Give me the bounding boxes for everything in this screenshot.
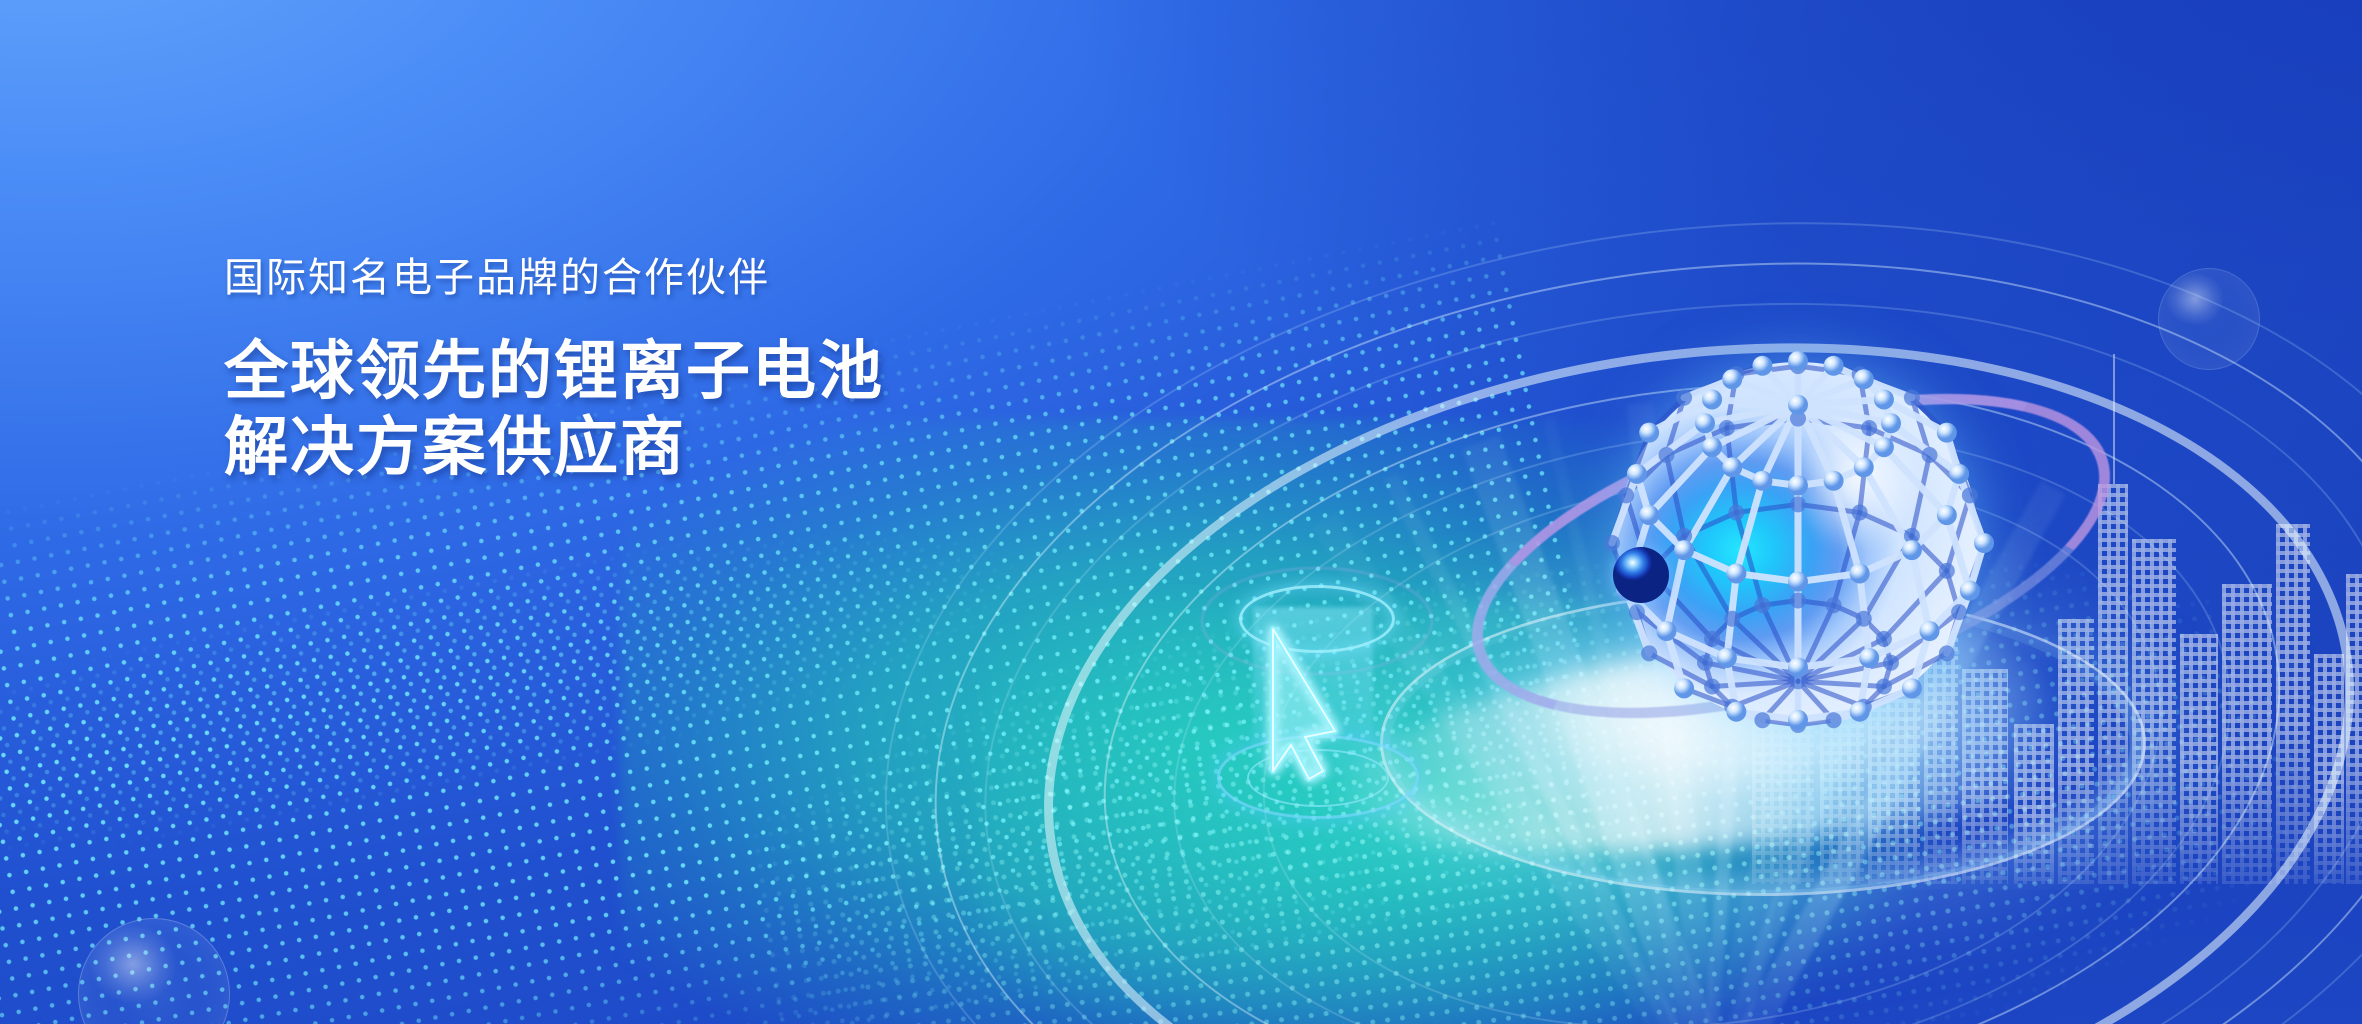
orbit-sphere-node bbox=[1613, 547, 1669, 603]
up-arrow-icon bbox=[1247, 603, 1407, 793]
bubble-top-right bbox=[2158, 268, 2260, 370]
hero-banner: 国际知名电子品牌的合作伙伴 全球领先的锂离子电池 解决方案供应商 bbox=[0, 0, 2362, 1024]
hero-headline-line-1: 全球领先的锂离子电池 bbox=[224, 334, 1124, 410]
wireframe-globe bbox=[1603, 348, 1993, 738]
globe-wireframe bbox=[1603, 348, 1993, 738]
hero-headline-line-2: 解决方案供应商 bbox=[224, 410, 1124, 486]
upward-arrow-portal bbox=[1195, 585, 1455, 815]
hero-eyebrow: 国际知名电子品牌的合作伙伴 bbox=[224, 258, 1124, 298]
hero-headline: 全球领先的锂离子电池 解决方案供应商 bbox=[224, 334, 1124, 485]
hero-copy: 国际知名电子品牌的合作伙伴 全球领先的锂离子电池 解决方案供应商 bbox=[224, 258, 1124, 485]
